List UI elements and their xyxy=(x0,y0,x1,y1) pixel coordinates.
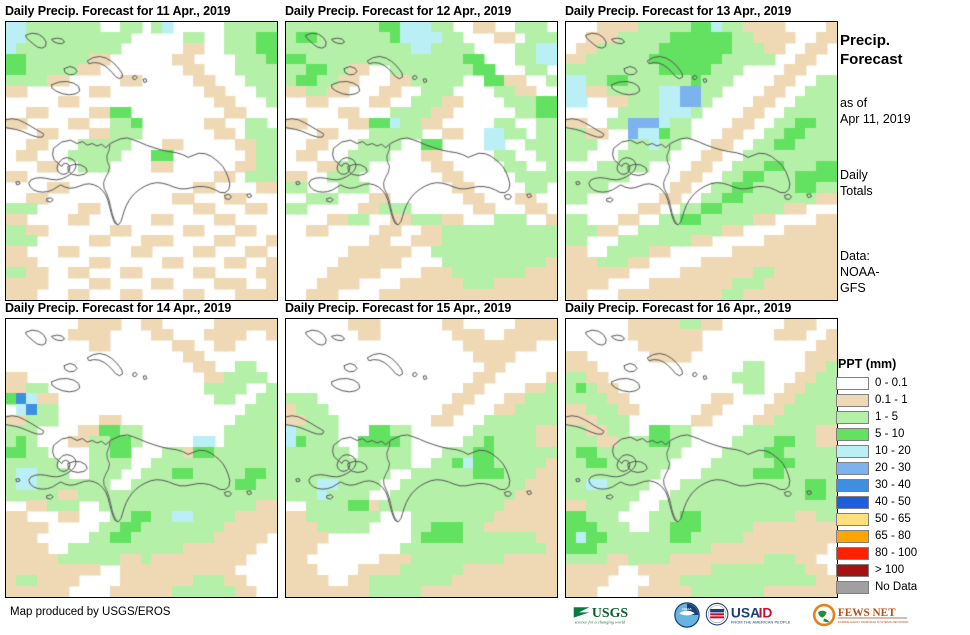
legend-row: 1 - 5 xyxy=(836,409,970,426)
panel-title-0: Daily Precip. Forecast for 11 Apr., 2019 xyxy=(5,3,278,21)
legend-row: 30 - 40 xyxy=(836,477,970,494)
legend-swatch xyxy=(836,547,869,560)
legend-swatch xyxy=(836,411,869,424)
noaa-logo: NOAA xyxy=(674,602,700,628)
precip-raster-0 xyxy=(6,22,277,300)
map-frame-4[interactable] xyxy=(285,318,558,598)
map-panel-1[interactable]: Daily Precip. Forecast for 12 Apr., 2019 xyxy=(285,3,558,301)
legend: PPT (mm) 0 - 0.10.1 - 11 - 55 - 1010 - 2… xyxy=(836,357,970,596)
legend-swatch xyxy=(836,530,869,543)
legend-label: 0.1 - 1 xyxy=(875,394,908,407)
legend-label: 65 - 80 xyxy=(875,530,911,543)
svg-text:science for a changing world: science for a changing world xyxy=(575,620,626,625)
sidebar-asof: as of Apr 11, 2019 xyxy=(840,95,911,127)
legend-swatch xyxy=(836,496,869,509)
legend-row: > 100 xyxy=(836,562,970,579)
legend-swatch xyxy=(836,564,869,577)
precip-raster-2 xyxy=(566,22,837,300)
legend-row: 0.1 - 1 xyxy=(836,392,970,409)
legend-label: 30 - 40 xyxy=(875,479,911,492)
legend-row: 5 - 10 xyxy=(836,426,970,443)
map-frame-2[interactable] xyxy=(565,21,838,301)
logo-strip: USGS science for a changing world NOAA U… xyxy=(572,601,914,629)
legend-row: 40 - 50 xyxy=(836,494,970,511)
legend-label: 5 - 10 xyxy=(875,428,904,441)
svg-text:USGS: USGS xyxy=(592,605,628,620)
svg-text:FEWS NET: FEWS NET xyxy=(838,607,896,619)
legend-row: 20 - 30 xyxy=(836,460,970,477)
legend-row: No Data xyxy=(836,579,970,596)
sidebar-totals: Daily Totals xyxy=(840,167,873,199)
svg-text:FAMINE EARLY WARNING SYSTEMS N: FAMINE EARLY WARNING SYSTEMS NETWORK xyxy=(838,620,910,624)
precip-raster-4 xyxy=(286,319,557,597)
map-frame-3[interactable] xyxy=(5,318,278,598)
precip-raster-3 xyxy=(6,319,277,597)
usgs-logo: USGS science for a changing world xyxy=(572,602,669,628)
legend-swatch xyxy=(836,377,869,390)
legend-title: PPT (mm) xyxy=(838,357,970,371)
legend-swatch xyxy=(836,513,869,526)
map-panel-2[interactable]: Daily Precip. Forecast for 13 Apr., 2019 xyxy=(565,3,838,301)
legend-row: 50 - 65 xyxy=(836,511,970,528)
map-panel-0[interactable]: Daily Precip. Forecast for 11 Apr., 2019 xyxy=(5,3,278,301)
panel-title-5: Daily Precip. Forecast for 16 Apr., 2019 xyxy=(565,300,838,318)
map-panel-3[interactable]: Daily Precip. Forecast for 14 Apr., 2019 xyxy=(5,300,278,598)
svg-text:FROM THE AMERICAN PEOPLE: FROM THE AMERICAN PEOPLE xyxy=(731,620,791,625)
sidebar-totals-line1: Daily xyxy=(840,167,873,183)
legend-label: 40 - 50 xyxy=(875,496,911,509)
legend-swatch xyxy=(836,462,869,475)
legend-rows: 0 - 0.10.1 - 11 - 55 - 1010 - 2020 - 303… xyxy=(836,375,970,596)
legend-swatch xyxy=(836,581,869,594)
svg-text:ID: ID xyxy=(759,605,773,621)
sidebar-asof-line2: Apr 11, 2019 xyxy=(840,111,911,127)
legend-swatch xyxy=(836,445,869,458)
legend-label: 20 - 30 xyxy=(875,462,911,475)
legend-label: 0 - 0.1 xyxy=(875,377,908,390)
legend-label: 10 - 20 xyxy=(875,445,911,458)
sidebar-data-source: Data: NOAA- GFS xyxy=(840,248,880,296)
legend-label: > 100 xyxy=(875,564,904,577)
sidebar-title: Precip. Forecast xyxy=(840,31,903,69)
legend-swatch xyxy=(836,394,869,407)
legend-row: 10 - 20 xyxy=(836,443,970,460)
sidebar-asof-line1: as of xyxy=(840,95,911,111)
usaid-logo: USA ID FROM THE AMERICAN PEOPLE xyxy=(705,602,807,628)
legend-swatch xyxy=(836,428,869,441)
sidebar-title-line2: Forecast xyxy=(840,50,903,69)
svg-text:USA: USA xyxy=(731,605,760,621)
map-frame-5[interactable] xyxy=(565,318,838,598)
precip-raster-1 xyxy=(286,22,557,300)
legend-row: 65 - 80 xyxy=(836,528,970,545)
panel-title-3: Daily Precip. Forecast for 14 Apr., 2019 xyxy=(5,300,278,318)
map-panel-5[interactable]: Daily Precip. Forecast for 16 Apr., 2019 xyxy=(565,300,838,598)
panel-title-2: Daily Precip. Forecast for 13 Apr., 2019 xyxy=(565,3,838,21)
legend-row: 80 - 100 xyxy=(836,545,970,562)
sidebar-data-line1: Data: xyxy=(840,248,880,264)
svg-text:NOAA: NOAA xyxy=(682,607,692,611)
precip-raster-5 xyxy=(566,319,837,597)
legend-label: 1 - 5 xyxy=(875,411,898,424)
map-frame-0[interactable] xyxy=(5,21,278,301)
map-frame-1[interactable] xyxy=(285,21,558,301)
map-panel-4[interactable]: Daily Precip. Forecast for 15 Apr., 2019 xyxy=(285,300,558,598)
sidebar-data-line3: GFS xyxy=(840,280,880,296)
legend-row: 0 - 0.1 xyxy=(836,375,970,392)
sidebar-data-line2: NOAA- xyxy=(840,264,880,280)
panel-title-1: Daily Precip. Forecast for 12 Apr., 2019 xyxy=(285,3,558,21)
legend-label: 50 - 65 xyxy=(875,513,911,526)
legend-swatch xyxy=(836,479,869,492)
sidebar-title-line1: Precip. xyxy=(840,31,903,50)
legend-label: 80 - 100 xyxy=(875,547,917,560)
map-credit: Map produced by USGS/EROS xyxy=(10,606,170,618)
fews-net-logo: FEWS NET FAMINE EARLY WARNING SYSTEMS NE… xyxy=(812,602,914,628)
legend-label: No Data xyxy=(875,581,917,594)
panel-title-4: Daily Precip. Forecast for 15 Apr., 2019 xyxy=(285,300,558,318)
sidebar-totals-line2: Totals xyxy=(840,183,873,199)
